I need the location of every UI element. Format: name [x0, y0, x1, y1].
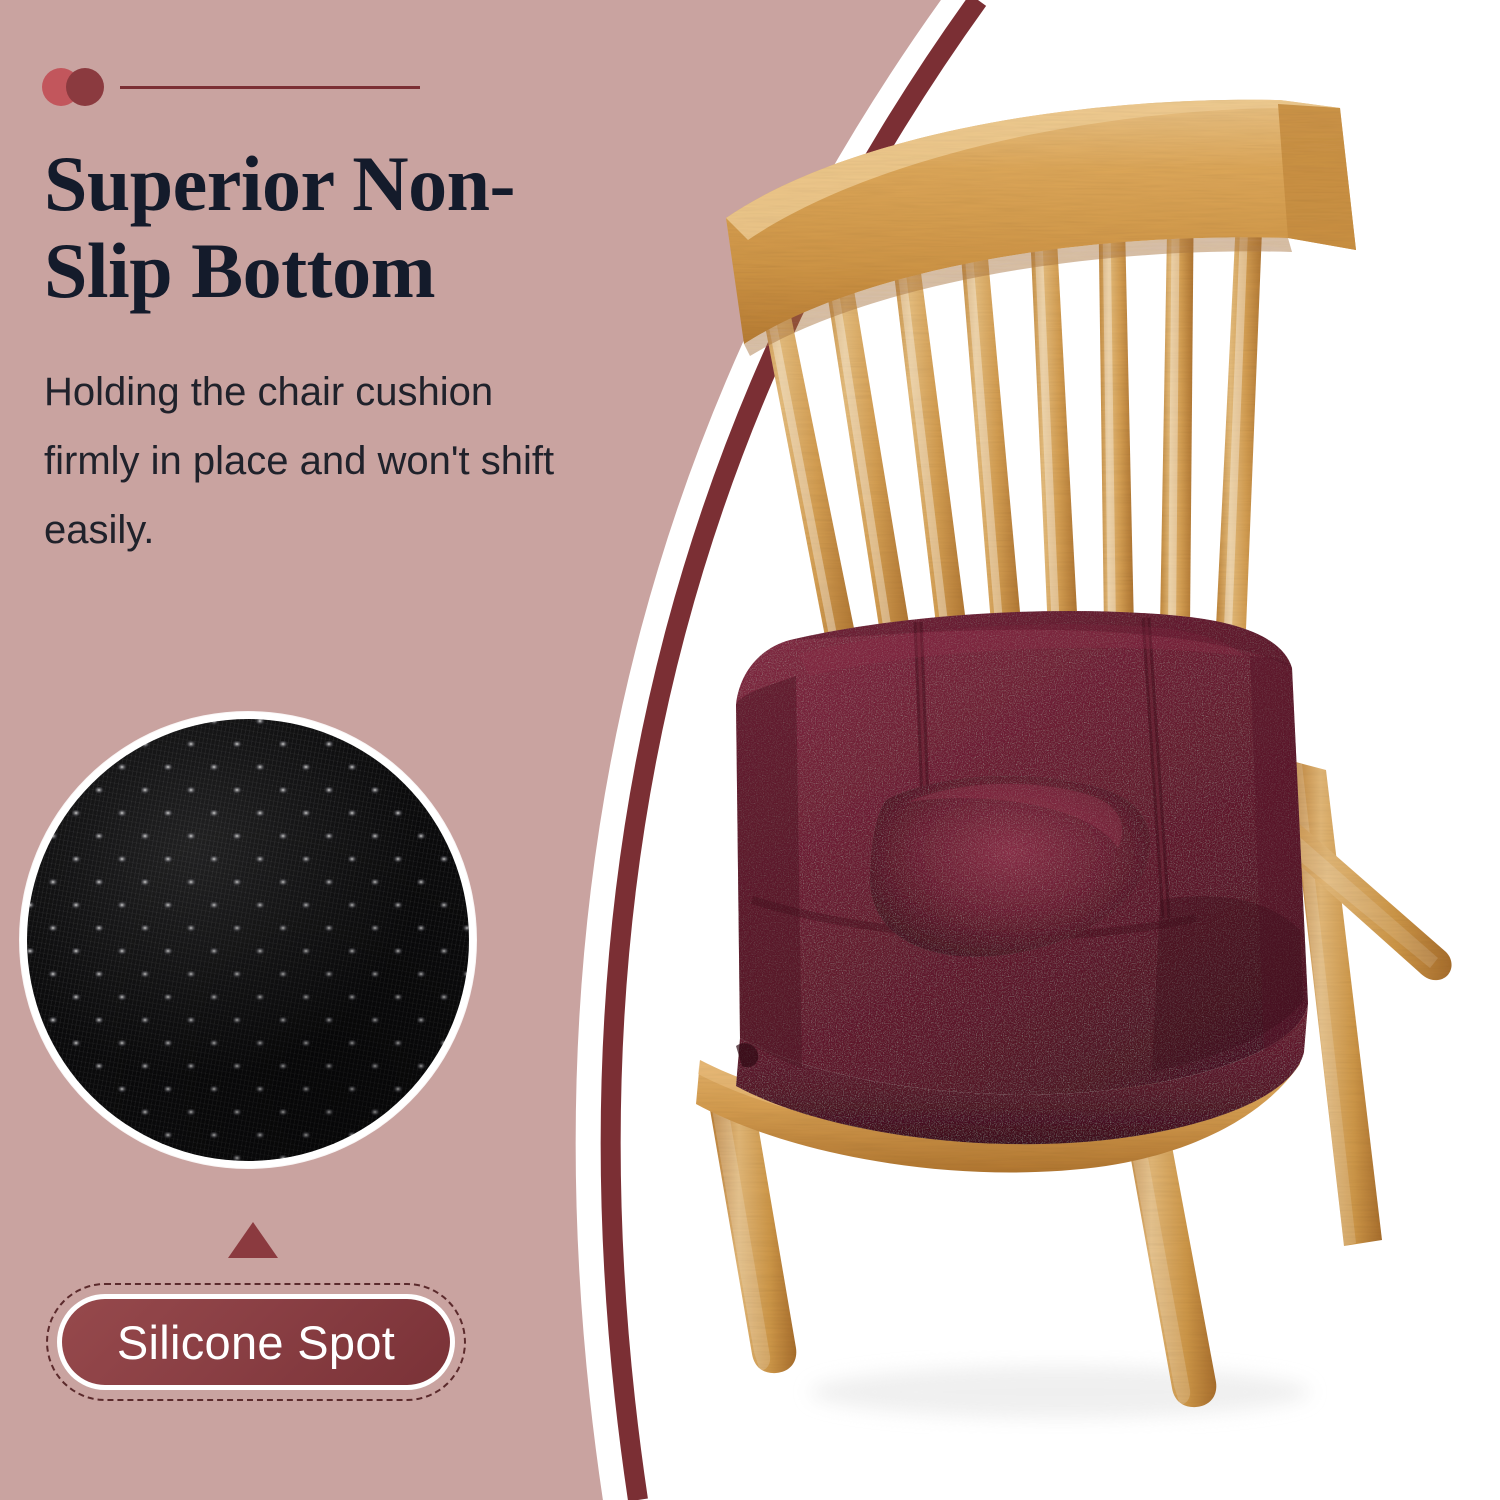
accent-rule — [120, 86, 420, 89]
info-panel: Superior Non-Slip Bottom Holding the cha… — [0, 0, 640, 1500]
page-subcopy: Holding the chair cushion firmly in plac… — [44, 358, 564, 564]
swatch-fabric-closeup — [27, 719, 469, 1161]
badge-pill: Silicone Spot — [62, 1299, 450, 1385]
accent-circle-dark-icon — [66, 68, 104, 106]
product-photo — [640, 0, 1500, 1500]
callout-pointer-icon — [228, 1222, 278, 1258]
badge-label: Silicone Spot — [117, 1315, 395, 1370]
silicone-swatch — [20, 712, 476, 1168]
swatch-lighting — [27, 719, 469, 1161]
poster-canvas: Superior Non-Slip Bottom Holding the cha… — [0, 0, 1500, 1500]
floor-shadow — [810, 1366, 1310, 1418]
silicone-spot-badge[interactable]: Silicone Spot — [46, 1283, 466, 1401]
seat-cushion — [736, 611, 1308, 1144]
accent-decoration — [42, 68, 420, 106]
page-title: Superior Non-Slip Bottom — [44, 140, 604, 315]
badge-inner-border: Silicone Spot — [57, 1294, 455, 1390]
